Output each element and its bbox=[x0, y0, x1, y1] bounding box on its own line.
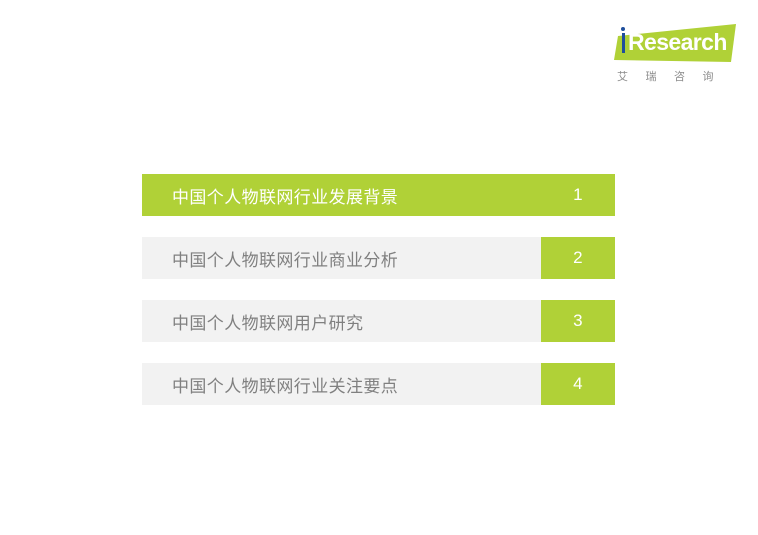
logo-wordmark: Research bbox=[628, 31, 727, 54]
agenda-item-2[interactable]: 中国个人物联网行业商业分析 2 bbox=[142, 237, 615, 279]
agenda-item-2-number: 2 bbox=[541, 237, 615, 279]
agenda-item-1-number: 1 bbox=[541, 174, 615, 216]
slide-canvas: Research 艾 瑞 咨 询 中国个人物联网行业发展背景 1 中国个人物联网… bbox=[0, 0, 758, 535]
agenda-item-2-label: 中国个人物联网行业商业分析 bbox=[142, 237, 541, 279]
agenda-item-4-label: 中国个人物联网行业关注要点 bbox=[142, 363, 541, 405]
logo-mark: Research bbox=[610, 24, 740, 64]
logo-subtitle: 艾 瑞 咨 询 bbox=[617, 68, 737, 84]
logo-i-dot-icon bbox=[621, 27, 625, 31]
agenda-item-3[interactable]: 中国个人物联网用户研究 3 bbox=[142, 300, 615, 342]
agenda-item-3-number: 3 bbox=[541, 300, 615, 342]
agenda-item-3-label: 中国个人物联网用户研究 bbox=[142, 300, 541, 342]
agenda-list: 中国个人物联网行业发展背景 1 中国个人物联网行业商业分析 2 中国个人物联网用… bbox=[142, 174, 615, 405]
agenda-item-4[interactable]: 中国个人物联网行业关注要点 4 bbox=[142, 363, 615, 405]
agenda-item-4-number: 4 bbox=[541, 363, 615, 405]
iresearch-logo: Research 艾 瑞 咨 询 bbox=[610, 24, 740, 86]
logo-i-stem-icon bbox=[622, 33, 626, 53]
agenda-item-1[interactable]: 中国个人物联网行业发展背景 1 bbox=[142, 174, 615, 216]
agenda-item-1-label: 中国个人物联网行业发展背景 bbox=[142, 174, 541, 216]
